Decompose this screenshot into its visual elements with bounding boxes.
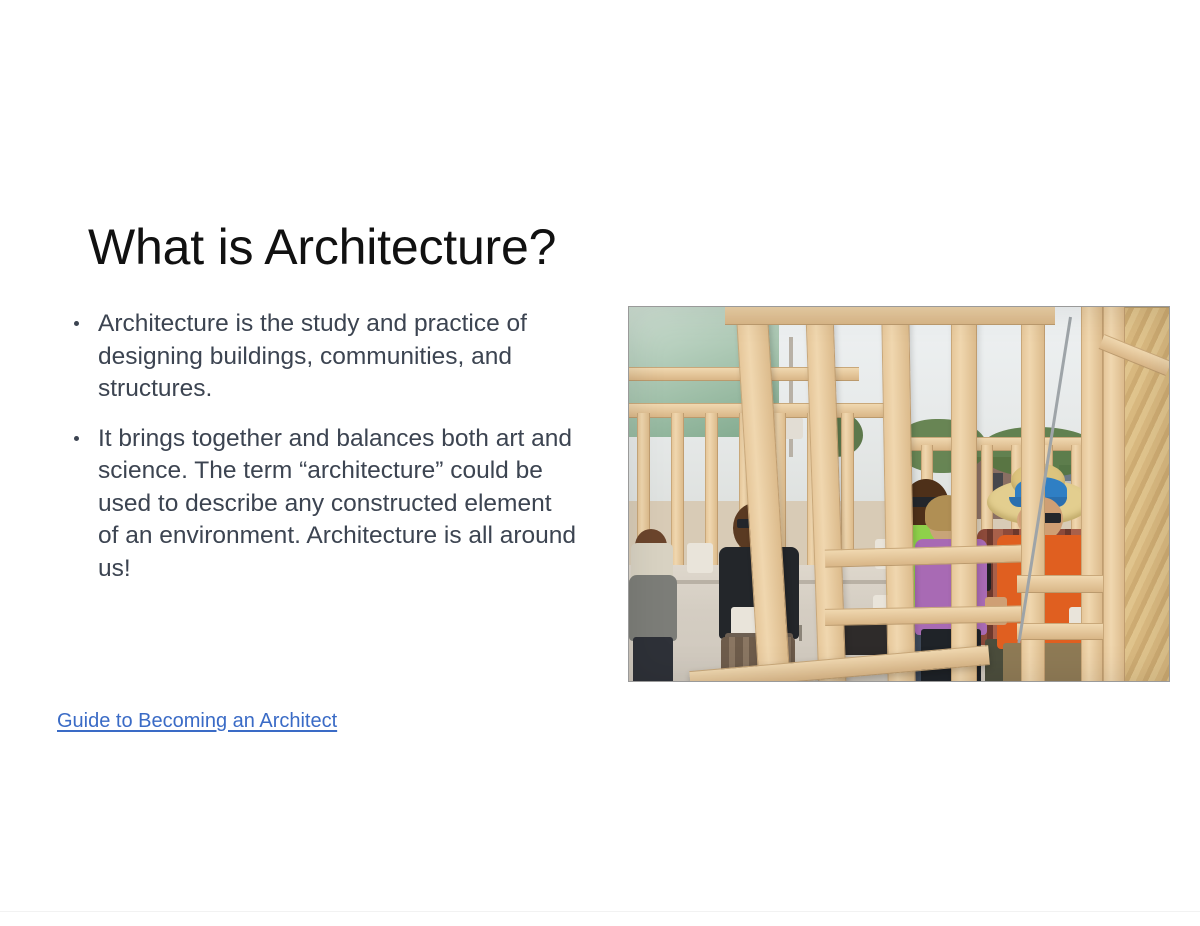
link-row: Guide to Becoming an Architect — [57, 710, 337, 733]
construction-photo — [628, 306, 1170, 682]
bullet-dot-icon — [74, 321, 79, 326]
lifted-wall-stud — [951, 307, 977, 681]
utility-pole — [789, 337, 793, 457]
bullet-dot-icon — [74, 436, 79, 441]
list-item: It brings together and balances both art… — [68, 423, 578, 586]
anchor-bolt — [799, 625, 802, 641]
blocking-member — [1017, 575, 1117, 593]
list-item-text: Architecture is the study and practice o… — [98, 310, 527, 402]
wall-stud — [1103, 307, 1125, 681]
guide-to-becoming-an-architect-link[interactable]: Guide to Becoming an Architect — [57, 710, 337, 732]
blocking-member — [1017, 623, 1117, 640]
page-title: What is Architecture? — [88, 220, 788, 275]
header-beam — [725, 307, 1055, 325]
bullet-list: Architecture is the study and practice o… — [68, 308, 578, 586]
list-item: Architecture is the study and practice o… — [68, 308, 578, 406]
slide-bottom-edge — [0, 911, 1200, 912]
list-item-text: It brings together and balances both art… — [98, 425, 576, 582]
slide: What is Architecture? Architecture is th… — [0, 0, 1200, 926]
photo-canvas — [629, 307, 1169, 681]
